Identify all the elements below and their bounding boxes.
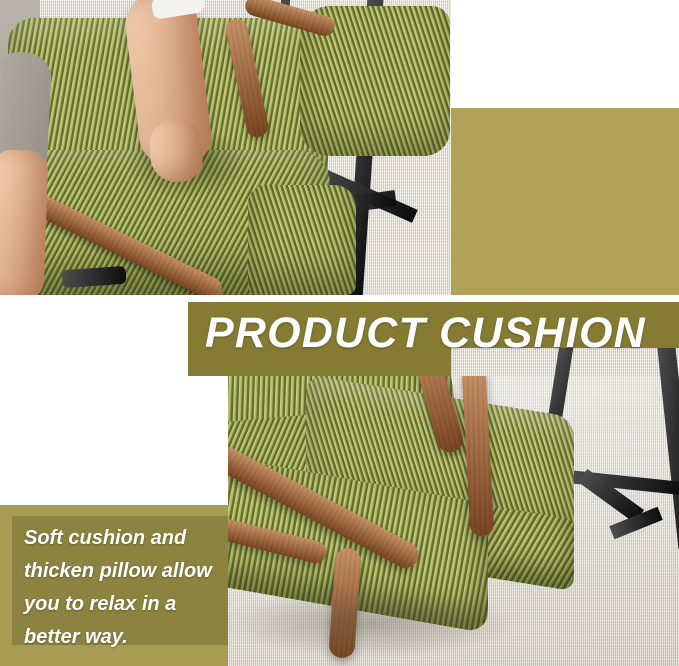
caption-frame: Soft cushion and thicken pillow allow yo… (0, 505, 228, 666)
photo-top-cushion-press (0, 0, 451, 295)
photo-bottom-armchair (228, 348, 679, 666)
seat-cushion-right (248, 185, 356, 295)
olive-block-top-right (451, 108, 679, 295)
product-poster: PRODUCT CUSHION Soft cushion and thicken… (0, 0, 679, 666)
caption-box: Soft cushion and thicken pillow allow yo… (12, 516, 228, 645)
page-title: PRODUCT CUSHION (205, 307, 679, 359)
white-panel-top-right (451, 0, 679, 108)
caption-text: Soft cushion and thicken pillow allow yo… (24, 522, 234, 654)
chair-floor-shadow (228, 588, 518, 658)
person-leg (0, 149, 49, 295)
